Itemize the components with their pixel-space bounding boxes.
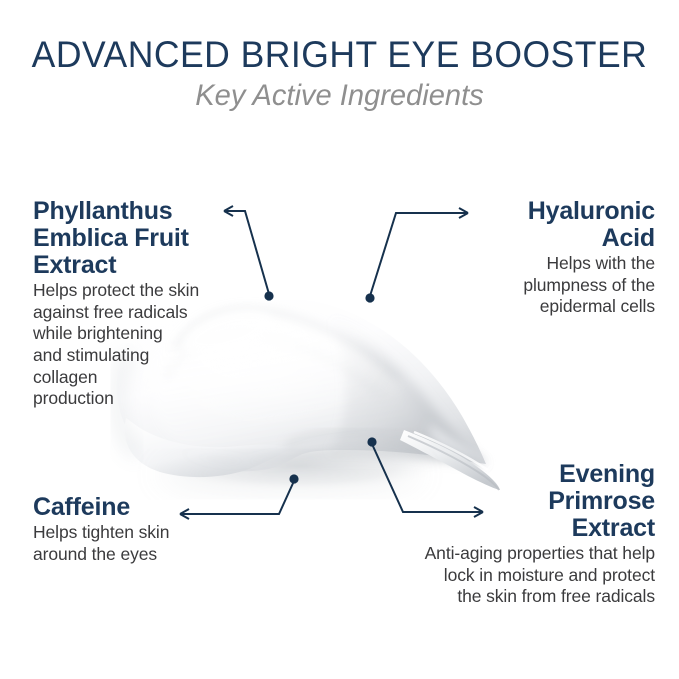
body-line: while brightening bbox=[33, 323, 238, 345]
heading-line: Evening bbox=[390, 461, 655, 488]
heading-line: Emblica Fruit bbox=[33, 225, 238, 252]
heading-line: Caffeine bbox=[33, 494, 243, 521]
body-line: around the eyes bbox=[33, 544, 243, 566]
ingredient-description: Helps protect the skin against free radi… bbox=[33, 280, 238, 410]
body-line: Helps tighten skin bbox=[33, 522, 243, 544]
heading-line: Extract bbox=[33, 252, 238, 279]
body-line: against free radicals bbox=[33, 302, 238, 324]
body-line: Helps protect the skin bbox=[33, 280, 238, 302]
body-line: plumpness of the bbox=[460, 275, 655, 297]
heading-line: Phyllanthus bbox=[33, 198, 238, 225]
body-line: Anti-aging properties that help bbox=[390, 543, 655, 565]
body-line: Helps with the bbox=[460, 253, 655, 275]
heading-line: Primrose bbox=[390, 488, 655, 515]
leader-dot-primrose bbox=[367, 437, 376, 446]
page-title: ADVANCED BRIGHT EYE BOOSTER bbox=[14, 36, 666, 74]
body-line: and stimulating bbox=[33, 345, 238, 367]
body-line: collagen bbox=[33, 367, 238, 389]
ingredient-description: Helps with the plumpness of the epiderma… bbox=[460, 253, 655, 318]
page-subtitle: Key Active Ingredients bbox=[10, 80, 669, 112]
leader-hyaluronic bbox=[365, 208, 468, 303]
header: ADVANCED BRIGHT EYE BOOSTER Key Active I… bbox=[0, 0, 679, 111]
body-line: the skin from free radicals bbox=[390, 586, 655, 608]
ingredient-hyaluronic-acid: Hyaluronic Acid Helps with the plumpness… bbox=[460, 198, 655, 318]
ingredient-heading: Caffeine bbox=[33, 494, 243, 521]
ingredient-heading: Hyaluronic Acid bbox=[460, 198, 655, 252]
ingredient-description: Anti-aging properties that help lock in … bbox=[390, 543, 655, 608]
ingredient-description: Helps tighten skin around the eyes bbox=[33, 522, 243, 565]
heading-line: Extract bbox=[390, 515, 655, 542]
ingredient-phyllanthus-emblica-fruit-extract: Phyllanthus Emblica Fruit Extract Helps … bbox=[33, 198, 238, 410]
heading-line: Acid bbox=[460, 225, 655, 252]
heading-line: Hyaluronic bbox=[460, 198, 655, 225]
leader-dot-caffeine bbox=[289, 474, 298, 483]
leader-dot-hyaluronic bbox=[365, 293, 374, 302]
body-line: epidermal cells bbox=[460, 296, 655, 318]
leader-dot-phyllanthus bbox=[264, 291, 273, 300]
ingredient-evening-primrose-extract: Evening Primrose Extract Anti-aging prop… bbox=[390, 461, 655, 608]
ingredient-heading: Phyllanthus Emblica Fruit Extract bbox=[33, 198, 238, 279]
body-line: production bbox=[33, 388, 238, 410]
infographic-canvas: ADVANCED BRIGHT EYE BOOSTER Key Active I… bbox=[0, 0, 679, 679]
body-line: lock in moisture and protect bbox=[390, 565, 655, 587]
ingredient-caffeine: Caffeine Helps tighten skin around the e… bbox=[33, 494, 243, 565]
ingredient-heading: Evening Primrose Extract bbox=[390, 461, 655, 542]
